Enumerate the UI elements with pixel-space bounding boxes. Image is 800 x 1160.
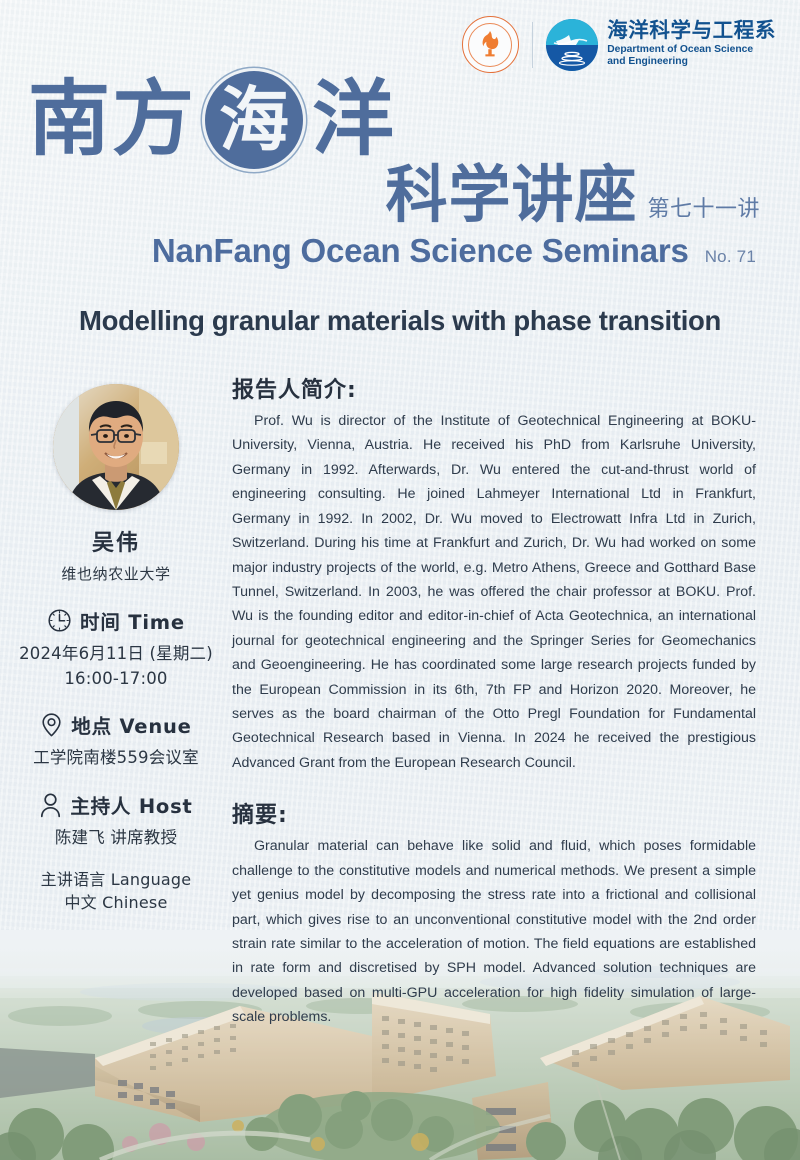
hero-title-en: NanFang Ocean Science Seminars (152, 232, 689, 270)
location-pin-icon (40, 712, 63, 738)
hero-title-block: 南方 海 洋 科学讲座 第七十一讲 NanFang Ocean Science … (0, 74, 800, 270)
speaker-portrait (53, 384, 179, 510)
ocean-mark-glyph (546, 19, 598, 71)
department-logo: 海洋科学与工程系 Department of Ocean Science and… (546, 19, 776, 71)
venue-value: 工学院南楼559会议室 (0, 744, 232, 768)
time-date: 2024年6月11日 (星期二) (0, 640, 232, 664)
description-column: 报告人简介: Prof. Wu is director of the Insti… (232, 372, 784, 1030)
department-name-cn: 海洋科学与工程系 (607, 20, 776, 41)
sustech-seal-icon (462, 16, 519, 73)
language-value: 中文 Chinese (41, 891, 192, 914)
hero-line-three: NanFang Ocean Science Seminars No. 71 (0, 232, 800, 270)
venue-label: 地点 Venue (71, 710, 191, 739)
language-label: 主讲语言 Language (41, 868, 192, 891)
host-label: 主持人 Host (70, 790, 192, 819)
info-sidebar: 吴伟 维也纳农业大学 时间 Time (0, 372, 232, 1030)
host-value: 陈建飞 讲席教授 (0, 824, 232, 848)
department-name-en-line1: Department of Ocean Science (607, 44, 776, 57)
seal-inner-ring (468, 23, 512, 67)
episode-number-cn: 第七十一讲 (647, 191, 760, 223)
episode-number-en: No. 71 (705, 247, 756, 267)
hero-line-two: 科学讲座 第七十一讲 (0, 164, 800, 226)
speaker-affiliation: 维也纳农业大学 (61, 563, 170, 584)
header-logo-bar: 海洋科学与工程系 Department of Ocean Science and… (462, 16, 776, 73)
host-heading: 主持人 Host (0, 790, 232, 819)
department-name-en-line2: and Engineering (607, 56, 776, 69)
host-block: 主持人 Host 陈建飞 讲席教授 (0, 790, 232, 848)
seminar-poster: 海洋科学与工程系 Department of Ocean Science and… (0, 0, 800, 1160)
bio-heading: 报告人简介: (232, 372, 756, 404)
logo-divider (532, 22, 534, 68)
time-hours: 16:00-17:00 (0, 669, 232, 688)
hero-circle-badge: 海 (205, 71, 303, 169)
person-icon (39, 792, 62, 818)
speaker-photo-illustration (53, 384, 179, 510)
hero-subtitle-cn: 科学讲座 (385, 164, 637, 226)
time-block: 时间 Time 2024年6月11日 (星期二) 16:00-17:00 (0, 606, 232, 688)
ocean-wave-ship-icon (546, 19, 598, 71)
hero-line-one: 南方 海 洋 (0, 74, 800, 166)
hero-title-part2: 洋 (312, 79, 396, 161)
department-text: 海洋科学与工程系 Department of Ocean Science and… (607, 20, 776, 69)
abstract-text: Granular material can behave like solid … (232, 834, 756, 1029)
content-columns: 吴伟 维也纳农业大学 时间 Time (0, 372, 800, 1030)
torch-flame-glyph (478, 30, 502, 60)
language-block: 主讲语言 Language 中文 Chinese (41, 868, 192, 914)
time-label: 时间 Time (80, 606, 185, 635)
venue-heading: 地点 Venue (0, 710, 232, 739)
venue-block: 地点 Venue 工学院南楼559会议室 (0, 710, 232, 768)
hero-title-circle-char: 海 (219, 85, 289, 155)
bio-text: Prof. Wu is director of the Institute of… (232, 409, 756, 775)
time-heading: 时间 Time (0, 606, 232, 635)
talk-title: Modelling granular materials with phase … (0, 305, 800, 337)
abstract-heading: 摘要: (232, 797, 756, 829)
hero-title-part1: 南方 (28, 79, 196, 161)
speaker-name: 吴伟 (92, 525, 140, 557)
clock-icon (47, 608, 72, 633)
